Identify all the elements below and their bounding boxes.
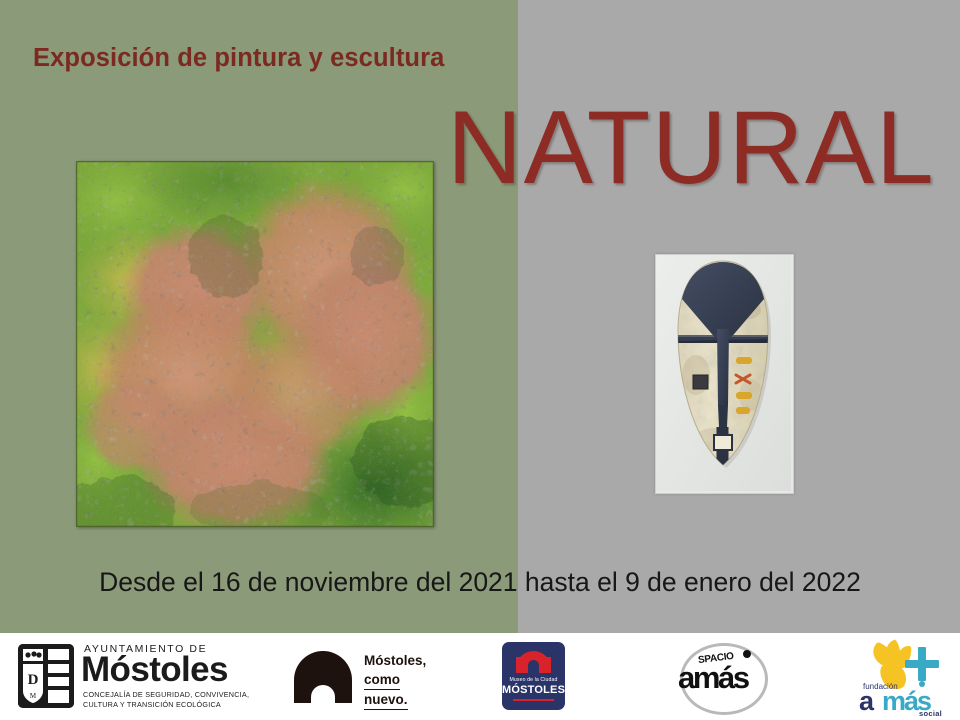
museo-card: Museo de la Ciudad MÓSTOLES [502, 642, 565, 710]
exhibition-poster: Exposición de pintura y escultura NATURA… [0, 0, 960, 720]
svg-text:D: D [28, 672, 39, 688]
poster-subtitle: Exposición de pintura y escultura [33, 44, 444, 73]
poster-title: NATURAL [447, 96, 935, 200]
logo-museo-de-la-ciudad-mostoles: Museo de la Ciudad MÓSTOLES [502, 633, 568, 720]
logo-fundacion-amas-social: fundación a más social [856, 633, 956, 720]
ayuntamiento-department: CONCEJALÍA DE SEGURIDAD, CONVIVENCIA, CU… [83, 690, 249, 711]
museo-city-name: MÓSTOLES [502, 684, 565, 696]
fundacion-social-label: social [919, 709, 942, 718]
plus-icon-horizontal [905, 660, 939, 668]
sculpture-image-card [655, 254, 794, 494]
coat-of-arms-svg: D M [18, 644, 74, 708]
svg-text:M: M [30, 692, 37, 700]
exhibition-dates: Desde el 16 de noviembre del 2021 hasta … [0, 567, 960, 598]
painting-artwork [76, 161, 434, 527]
como-nuevo-line3: nuevo. [364, 690, 408, 710]
logo-mostoles-como-nuevo: Móstoles, como nuevo. [294, 633, 464, 720]
logo-spacio-amas: SPACIO amás [672, 633, 782, 720]
spacio-word-main: amás [678, 662, 748, 693]
mostoles-coat-of-arms-icon: D M [18, 644, 74, 708]
como-nuevo-text: Móstoles, como nuevo. [364, 651, 426, 710]
museo-subtitle: Museo de la Ciudad [502, 677, 565, 683]
sculpture-stage [656, 255, 793, 493]
painting-canvas [76, 161, 434, 527]
ayuntamiento-city-name: Móstoles [81, 652, 228, 687]
museo-rule [513, 699, 554, 701]
museo-m-monogram-icon [516, 651, 551, 672]
painting-image [76, 161, 434, 527]
como-nuevo-line2: como [364, 670, 400, 690]
como-nuevo-line1: Móstoles, [364, 651, 426, 670]
spacio-dot-icon [743, 650, 751, 658]
mask-sculpture-artwork [656, 255, 791, 491]
logo-ayuntamiento-mostoles: D M AYUNTAMIENTO DE Móstoles CONCEJALÍA … [18, 633, 263, 720]
fundacion-word-a: a [859, 688, 872, 715]
arch-notch-icon [311, 685, 335, 705]
